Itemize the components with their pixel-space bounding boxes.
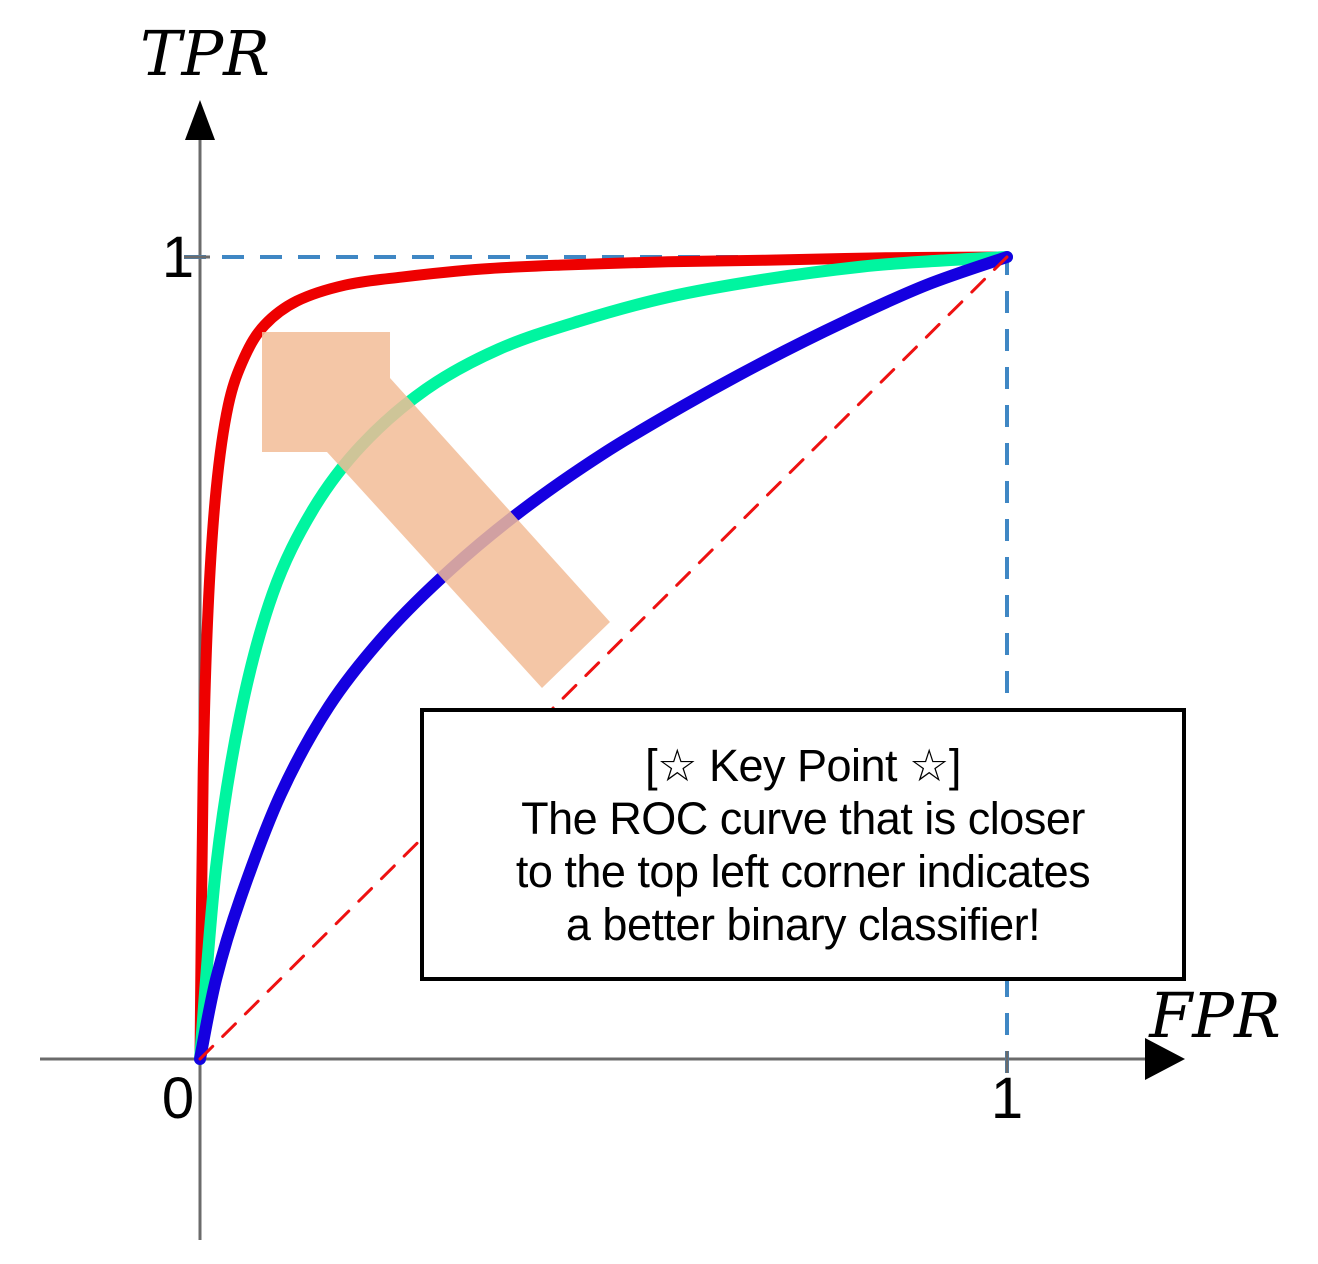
origin-tick-label: 0 xyxy=(162,1066,194,1131)
y-axis-arrowhead-icon xyxy=(185,100,215,140)
callout-line-2: to the top left corner indicates xyxy=(516,845,1090,898)
key-point-callout: [☆ Key Point ☆] The ROC curve that is cl… xyxy=(420,708,1186,981)
roc-plot-svg: TPRFPR011 xyxy=(0,0,1318,1264)
x-axis-label: FPR xyxy=(1148,979,1280,1052)
callout-line-3: a better binary classifier! xyxy=(566,898,1040,951)
x-tick-label-1: 1 xyxy=(991,1066,1023,1131)
callout-line-0: [☆ Key Point ☆] xyxy=(645,739,961,792)
y-axis-label: TPR xyxy=(140,17,270,90)
roc-figure: TPRFPR011 [☆ Key Point ☆] The ROC curve … xyxy=(0,0,1318,1264)
callout-line-1: The ROC curve that is closer xyxy=(521,792,1085,845)
